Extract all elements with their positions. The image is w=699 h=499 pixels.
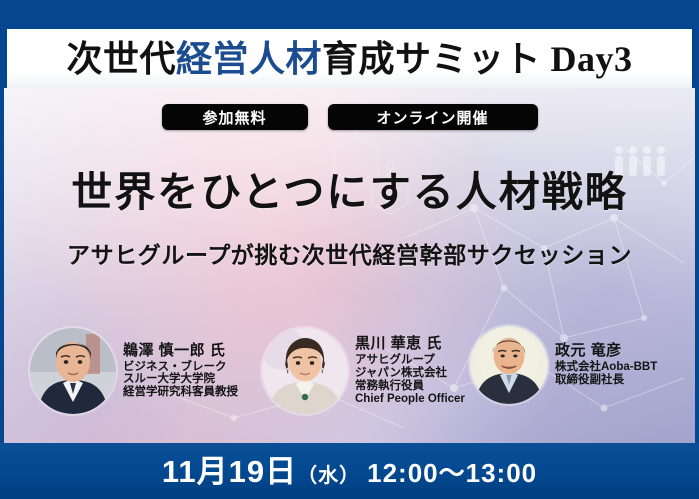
date-band: 11月19日（水）12:00〜13:00 <box>0 443 699 499</box>
badge-row: 参加無料 オンライン開催 <box>0 104 699 130</box>
speaker-photo-kurokawa <box>262 328 348 414</box>
avatar-illustration <box>470 326 548 404</box>
speaker-info-2: 黒川 華恵 氏 アサヒグループ ジャパン株式会社 常務執行役員 Chief Pe… <box>355 336 465 405</box>
speaker-affiliation-3-line-1: 株式会社Aoba-BBT <box>555 361 657 374</box>
avatar-illustration <box>262 328 348 414</box>
speaker-card-2: 黒川 華恵 氏 アサヒグループ ジャパン株式会社 常務執行役員 Chief Pe… <box>262 328 465 414</box>
badge-free-entry: 参加無料 <box>162 104 308 130</box>
event-weekday: （水） <box>297 465 360 487</box>
event-time: 12:00〜13:00 <box>367 458 537 488</box>
hero-headline: 世界をひとつにする人材戦略 <box>0 170 699 215</box>
speaker-affiliation-1-line-2: スルー大学大学院 <box>123 373 238 386</box>
speaker-name-2: 黒川 華恵 氏 <box>355 336 465 353</box>
speaker-affiliation-1-line-3: 経営学研究科客員教授 <box>123 386 238 399</box>
speaker-affiliation-2-line-3: 常務執行役員 <box>355 380 465 393</box>
speaker-photo-masamoto <box>470 326 548 404</box>
badge-online-event: オンライン開催 <box>328 104 538 130</box>
speaker-affiliation-2-line-2: ジャパン株式会社 <box>355 367 465 380</box>
speaker-info-3: 政元 竜彦 株式会社Aoba-BBT 取締役副社長 <box>555 343 657 387</box>
speaker-name-3: 政元 竜彦 <box>555 343 657 360</box>
title-suffix: 育成サミット Day3 <box>322 39 633 79</box>
speaker-affiliation-1-line-1: ビジネス・ブレーク <box>123 361 238 374</box>
avatar-illustration <box>30 328 116 414</box>
title-accent: 経営人材 <box>176 39 322 79</box>
event-date: 11月19日 <box>162 454 297 489</box>
speaker-affiliation-2-line-4: Chief People Officer <box>355 393 465 406</box>
speaker-info-1: 鵜澤 慎一郎 氏 ビジネス・ブレーク スルー大学大学院 経営学研究科客員教授 <box>123 343 238 399</box>
speaker-affiliation-3-line-2: 取締役副社長 <box>555 374 657 387</box>
event-banner: 次世代経営人材育成サミット Day3 <box>0 0 699 499</box>
speaker-row: 鵜澤 慎一郎 氏 ビジネス・ブレーク スルー大学大学院 経営学研究科客員教授 <box>0 326 699 426</box>
speaker-photo-uzawa <box>30 328 116 414</box>
speaker-name-1: 鵜澤 慎一郎 氏 <box>123 343 238 360</box>
speaker-affiliation-2-line-1: アサヒグループ <box>355 354 465 367</box>
title-prefix: 次世代 <box>66 39 176 79</box>
page-title: 次世代経営人材育成サミット Day3 <box>66 41 632 77</box>
speaker-card-1: 鵜澤 慎一郎 氏 ビジネス・ブレーク スルー大学大学院 経営学研究科客員教授 <box>30 328 238 414</box>
hero-subheadline: アサヒグループが挑む次世代経営幹部サクセッション <box>0 243 699 268</box>
top-blue-band <box>0 0 699 29</box>
speaker-card-3: 政元 竜彦 株式会社Aoba-BBT 取締役副社長 <box>470 326 657 404</box>
title-plate: 次世代経営人材育成サミット Day3 <box>7 29 692 88</box>
event-datetime: 11月19日（水）12:00〜13:00 <box>162 456 537 487</box>
